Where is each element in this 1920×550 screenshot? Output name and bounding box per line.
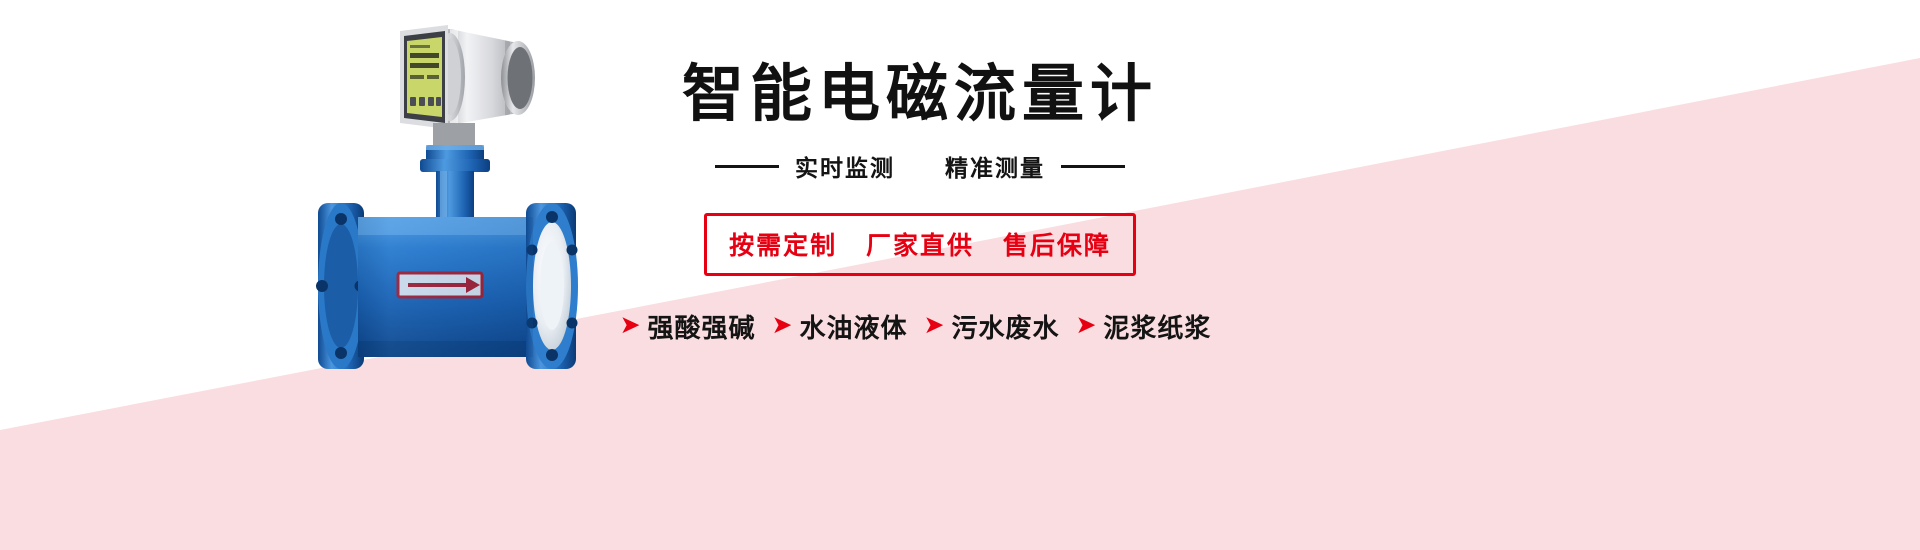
page-title: 智能电磁流量计 bbox=[682, 58, 1158, 129]
subtitle-row: 实时监测 精准测量 bbox=[715, 149, 1125, 183]
right-triangle-arrow-icon: ➤ bbox=[1075, 313, 1096, 338]
right-triangle-arrow-icon: ➤ bbox=[772, 313, 793, 338]
subtitle-left: 实时监测 bbox=[795, 149, 895, 183]
riser-neck bbox=[420, 123, 490, 221]
feature-list: ➤ 强酸强碱 ➤ 水油液体 ➤ 污水废水 ➤ 泥浆纸浆 bbox=[620, 308, 1221, 345]
right-triangle-arrow-icon: ➤ bbox=[924, 313, 945, 338]
feature-item-1: ➤ 强酸强碱 bbox=[620, 308, 756, 345]
product-image-flowmeter bbox=[300, 5, 640, 425]
badge-item-warranty: 售后保障 bbox=[1003, 231, 1111, 260]
banner-copy: 智能电磁流量计 实时监测 精准测量 按需定制 厂家直供 售后保障 ➤ 强酸强碱 … bbox=[600, 30, 1240, 360]
right-triangle-arrow-icon: ➤ bbox=[620, 313, 641, 338]
divider-right bbox=[1061, 165, 1125, 168]
subtitle-right: 精准测量 bbox=[945, 149, 1045, 183]
divider-left bbox=[715, 165, 779, 168]
feature-label-1: 强酸强碱 bbox=[648, 308, 756, 345]
meter-body bbox=[316, 203, 578, 369]
promo-banner: 智能电磁流量计 实时监测 精准测量 按需定制 厂家直供 售后保障 ➤ 强酸强碱 … bbox=[0, 0, 1920, 550]
lcd-display bbox=[400, 25, 448, 129]
feature-label-4: 泥浆纸浆 bbox=[1103, 308, 1211, 345]
guarantee-badge: 按需定制 厂家直供 售后保障 bbox=[704, 213, 1136, 276]
feature-item-2: ➤ 水油液体 bbox=[772, 308, 908, 345]
badge-item-factory: 厂家直供 bbox=[866, 231, 974, 260]
feature-label-2: 水油液体 bbox=[799, 308, 907, 345]
feature-item-4: ➤ 泥浆纸浆 bbox=[1075, 308, 1211, 345]
feature-label-3: 污水废水 bbox=[951, 308, 1059, 345]
badge-item-custom: 按需定制 bbox=[729, 231, 837, 260]
flowmeter-illustration bbox=[300, 5, 640, 425]
feature-item-3: ➤ 污水废水 bbox=[924, 308, 1060, 345]
